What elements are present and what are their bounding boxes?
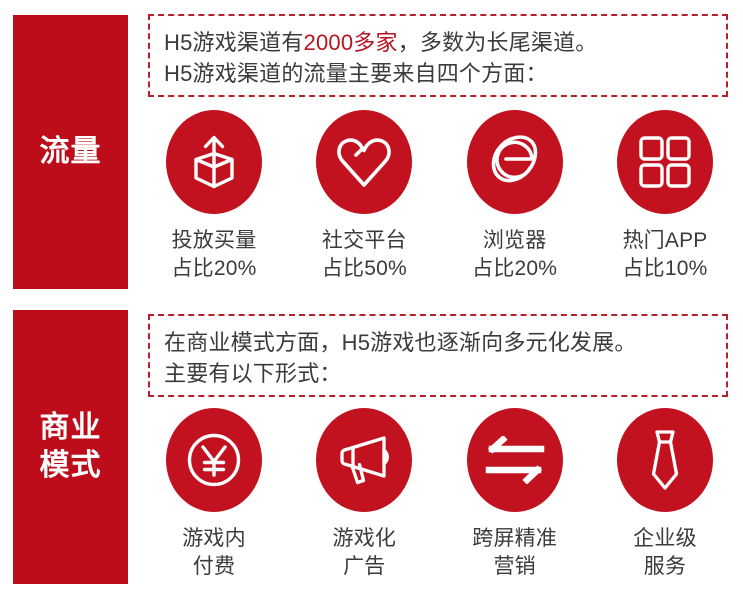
side-panel-traffic-label: 流量	[40, 133, 102, 171]
necktie-icon	[617, 408, 713, 512]
callout-traffic-line1-before: H5游戏渠道有	[164, 30, 304, 55]
box-arrow-up-icon	[166, 110, 262, 214]
icon-cell-social-platform[interactable]: 社交平台 占比50%	[298, 110, 430, 284]
browser-orbit-icon	[467, 110, 563, 214]
heart-icon	[316, 110, 412, 214]
icon-cell-cross-screen-marketing[interactable]: 跨屏精准 营销	[449, 408, 581, 582]
callout-business-line1: 在商业模式方面，H5游戏也逐渐向多元化发展。	[164, 327, 712, 358]
icon-cell-gamified-ads[interactable]: 游戏化 广告	[298, 408, 430, 582]
icon-caption-investment-buy: 投放买量 占比20%	[171, 227, 256, 284]
icon-caption-in-game-payment: 游戏内 付费	[182, 525, 246, 582]
callout-traffic-line1-after: ，多数为长尾渠道。	[398, 30, 598, 55]
icon-caption-enterprise-service: 企业级 服务	[633, 525, 697, 582]
callout-business-line2: 主要有以下形式：	[164, 358, 712, 389]
side-panel-business: 商业 模式	[13, 310, 128, 584]
exchange-arrows-icon	[467, 408, 563, 512]
side-panel-business-label: 商业 模式	[40, 409, 102, 486]
icon-caption-browser: 浏览器 占比20%	[472, 227, 557, 284]
icon-row-traffic: 投放买量 占比20% 社交平台 占比50%	[148, 110, 731, 284]
megaphone-icon	[316, 408, 412, 512]
callout-traffic: H5游戏渠道有2000多家，多数为长尾渠道。 H5游戏渠道的流量主要来自四个方面…	[148, 14, 728, 97]
app-grid-icon	[617, 110, 713, 214]
icon-cell-investment-buy[interactable]: 投放买量 占比20%	[148, 110, 280, 284]
section-business-model: 商业 模式 在商业模式方面，H5游戏也逐渐向多元化发展。 主要有以下形式：	[0, 300, 743, 596]
icon-caption-social-platform: 社交平台 占比50%	[322, 227, 407, 284]
callout-traffic-line1: H5游戏渠道有2000多家，多数为长尾渠道。	[164, 27, 712, 58]
callout-business: 在商业模式方面，H5游戏也逐渐向多元化发展。 主要有以下形式：	[148, 314, 728, 397]
section-traffic: 流量 H5游戏渠道有2000多家，多数为长尾渠道。 H5游戏渠道的流量主要来自四…	[0, 0, 743, 300]
icon-caption-cross-screen-marketing: 跨屏精准 营销	[472, 525, 557, 582]
icon-cell-browser[interactable]: 浏览器 占比20%	[449, 110, 581, 284]
yuan-coin-icon	[166, 408, 262, 512]
side-panel-traffic: 流量	[13, 15, 128, 289]
icon-cell-in-game-payment[interactable]: 游戏内 付费	[148, 408, 280, 582]
icon-caption-gamified-ads: 游戏化 广告	[333, 525, 397, 582]
icon-row-business: 游戏内 付费 游戏化 广告	[148, 408, 731, 582]
icon-cell-enterprise-service[interactable]: 企业级 服务	[599, 408, 731, 582]
icon-caption-popular-app: 热门APP 占比10%	[622, 227, 707, 284]
callout-traffic-line2: H5游戏渠道的流量主要来自四个方面：	[164, 58, 712, 89]
infographic-root: 流量 H5游戏渠道有2000多家，多数为长尾渠道。 H5游戏渠道的流量主要来自四…	[0, 0, 743, 596]
callout-traffic-highlight: 2000多家	[304, 30, 398, 55]
icon-cell-popular-app[interactable]: 热门APP 占比10%	[599, 110, 731, 284]
